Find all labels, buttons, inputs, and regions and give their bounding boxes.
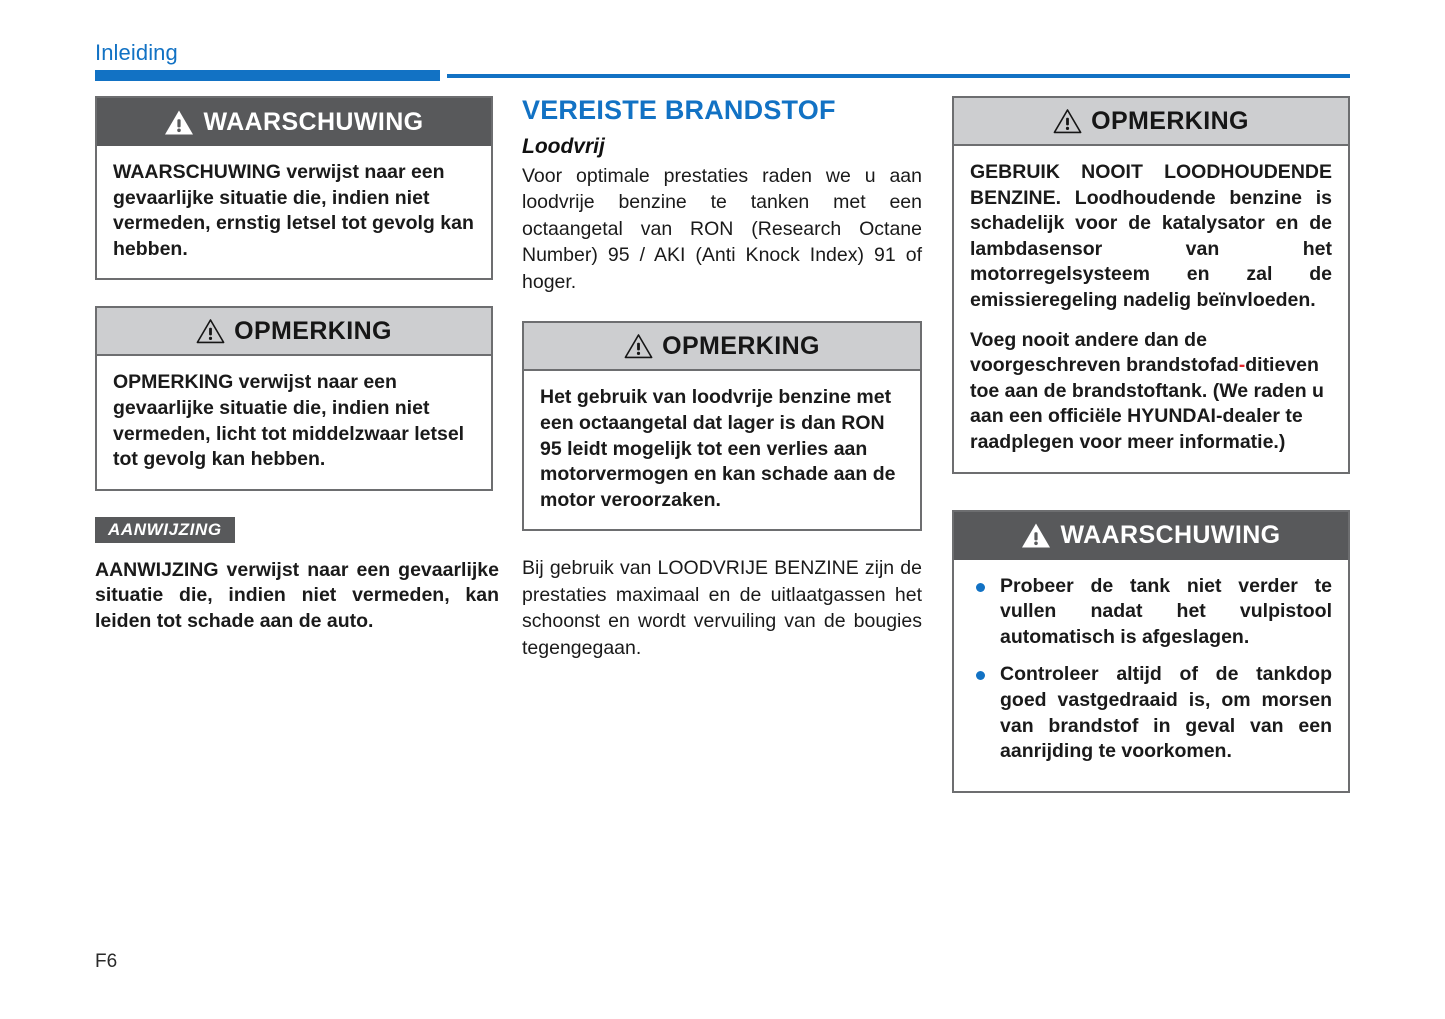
header-accent-bar <box>95 70 440 81</box>
callout-paragraph-1: GEBRUIK NOOIT LOODHOUDENDE BENZINE. Lood… <box>970 160 1332 314</box>
callout-header: OPMERKING <box>97 308 491 356</box>
instruction-tag: AANWIJZING <box>95 517 235 543</box>
page-header: Inleiding <box>0 0 1445 84</box>
warning-triangle-outline-icon <box>1053 108 1082 134</box>
callout-title: WAARSCHUWING <box>203 110 423 135</box>
notice-callout-leaded-fuel: OPMERKING GEBRUIK NOOIT LOODHOUDENDE BEN… <box>952 96 1350 474</box>
list-item: Probeer de tank niet verder te vullen na… <box>970 574 1332 651</box>
list-item-text: Controleer altijd of de tankdop goed vas… <box>1000 663 1332 762</box>
closing-paragraph: Bij gebruik van LOODVRIJE BENZINE zijn d… <box>522 555 922 661</box>
callout-body: GEBRUIK NOOIT LOODHOUDENDE BENZINE. Lood… <box>954 146 1348 472</box>
callout-paragraph: WAARSCHUWING verwijst naar een gevaarlij… <box>113 160 475 262</box>
right-column: OPMERKING GEBRUIK NOOIT LOODHOUDENDE BEN… <box>952 96 1350 793</box>
callout-body: OPMERKING verwijst naar een gevaarlijke … <box>97 356 491 488</box>
callout-body: Probeer de tank niet verder te vullen na… <box>954 560 1348 791</box>
warning-callout-definition: WAARSCHUWING WAARSCHUWING verwijst naar … <box>95 96 493 280</box>
warning-triangle-filled-icon <box>1021 522 1051 549</box>
intro-paragraph: Voor optimale prestaties raden we u aan … <box>522 163 922 296</box>
callout-header: OPMERKING <box>954 98 1348 146</box>
callout-header: WAARSCHUWING <box>954 512 1348 560</box>
notice-callout-definition: OPMERKING OPMERKING verwijst naar een ge… <box>95 306 493 490</box>
callout-body: WAARSCHUWING verwijst naar een gevaarlij… <box>97 146 491 278</box>
paragraph-text-before-hyphen: Voeg nooit andere dan de voorgeschreven … <box>970 329 1239 377</box>
warning-triangle-outline-icon <box>196 318 225 344</box>
callout-header: WAARSCHUWING <box>97 98 491 146</box>
warning-triangle-filled-icon <box>164 109 194 136</box>
instruction-block: AANWIJZING AANWIJZING verwijst naar een … <box>95 517 493 635</box>
section-heading: VEREISTE BRANDSTOF <box>522 96 922 126</box>
instruction-body: AANWIJZING verwijst naar een gevaarlijke… <box>95 558 499 635</box>
notice-callout-octane: OPMERKING Het gebruik van loodvrije benz… <box>522 321 922 531</box>
left-column: WAARSCHUWING WAARSCHUWING verwijst naar … <box>95 96 493 635</box>
warning-triangle-outline-icon <box>624 333 653 359</box>
callout-paragraph: Het gebruik van loodvrije benzine met ee… <box>540 385 904 513</box>
callout-title: OPMERKING <box>1091 109 1249 134</box>
callout-paragraph: OPMERKING verwijst naar een gevaarlijke … <box>113 370 475 472</box>
callout-title: OPMERKING <box>662 334 820 359</box>
bullet-dot-icon <box>976 671 985 680</box>
warning-bullet-list: Probeer de tank niet verder te vullen na… <box>970 574 1332 765</box>
warning-callout-refuelling: WAARSCHUWING Probeer de tank niet verder… <box>952 510 1350 793</box>
middle-column: VEREISTE BRANDSTOF Loodvrij Voor optimal… <box>522 96 922 661</box>
sub-heading: Loodvrij <box>522 134 922 159</box>
bullet-dot-icon <box>976 583 985 592</box>
callout-title: WAARSCHUWING <box>1060 523 1280 548</box>
callout-paragraph-2: Voeg nooit andere dan de voorgeschreven … <box>970 328 1332 456</box>
header-rule-line <box>447 74 1350 78</box>
callout-title: OPMERKING <box>234 319 392 344</box>
page-title: Inleiding <box>95 42 178 64</box>
callout-header: OPMERKING <box>524 323 920 371</box>
list-item: Controleer altijd of de tankdop goed vas… <box>970 662 1332 764</box>
callout-body: Het gebruik van loodvrije benzine met ee… <box>524 371 920 529</box>
page-number: F6 <box>95 952 117 971</box>
list-item-text: Probeer de tank niet verder te vullen na… <box>1000 575 1332 648</box>
